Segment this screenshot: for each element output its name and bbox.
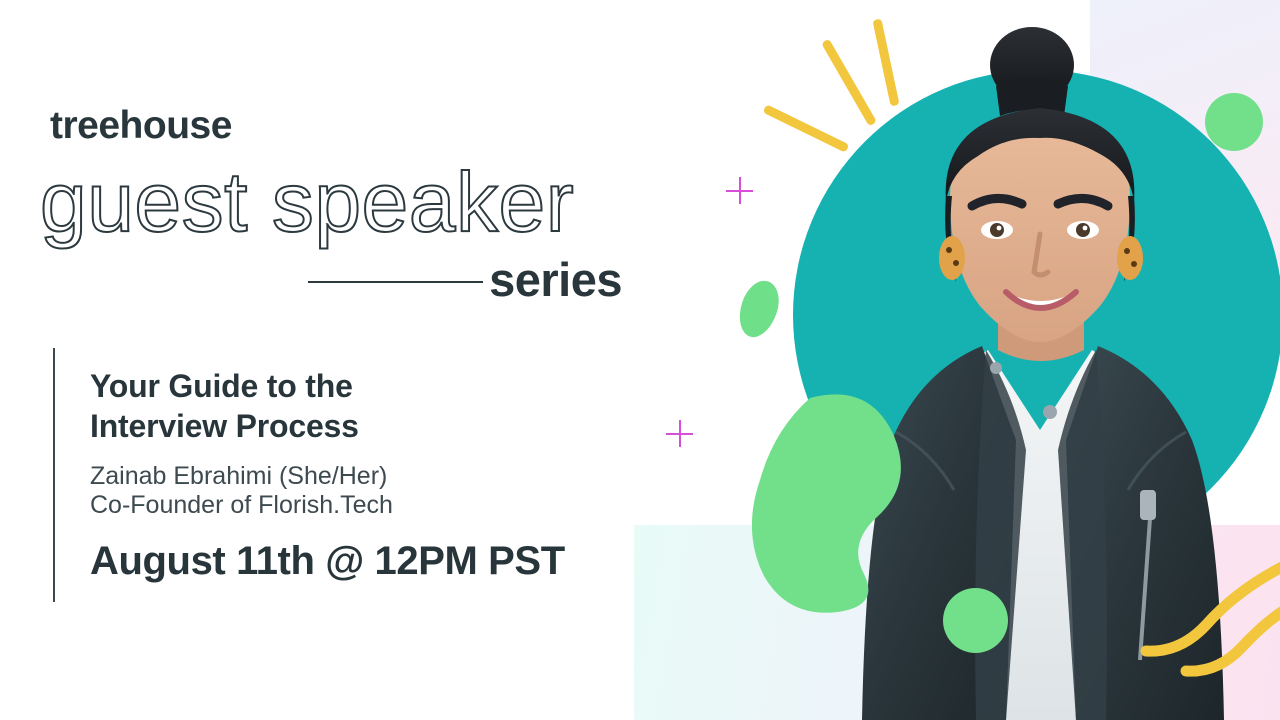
speaker-role: Co-Founder of Florish.Tech xyxy=(90,489,393,521)
headline-guest-speaker: guest speaker xyxy=(40,160,574,244)
talk-title: Your Guide to the Interview Process xyxy=(90,366,560,446)
speaker-name: Zainab Ebrahimi (She/Her) xyxy=(90,460,387,492)
event-datetime: August 11th @ 12PM PST xyxy=(90,535,565,587)
magenta-plus-upper-icon xyxy=(726,177,753,204)
content-column: treehouse guest speaker series Your Guid… xyxy=(0,0,660,720)
session-accent-rule xyxy=(53,348,55,602)
magenta-plus-lower-icon xyxy=(666,420,693,447)
treehouse-wordmark: treehouse xyxy=(50,106,232,145)
series-row: series xyxy=(300,252,630,308)
series-label: series xyxy=(489,252,622,308)
speaker-photo xyxy=(800,20,1280,720)
promo-slide: treehouse guest speaker series Your Guid… xyxy=(0,0,1280,720)
green-blob-small xyxy=(733,276,785,342)
series-divider-rule xyxy=(308,281,483,283)
